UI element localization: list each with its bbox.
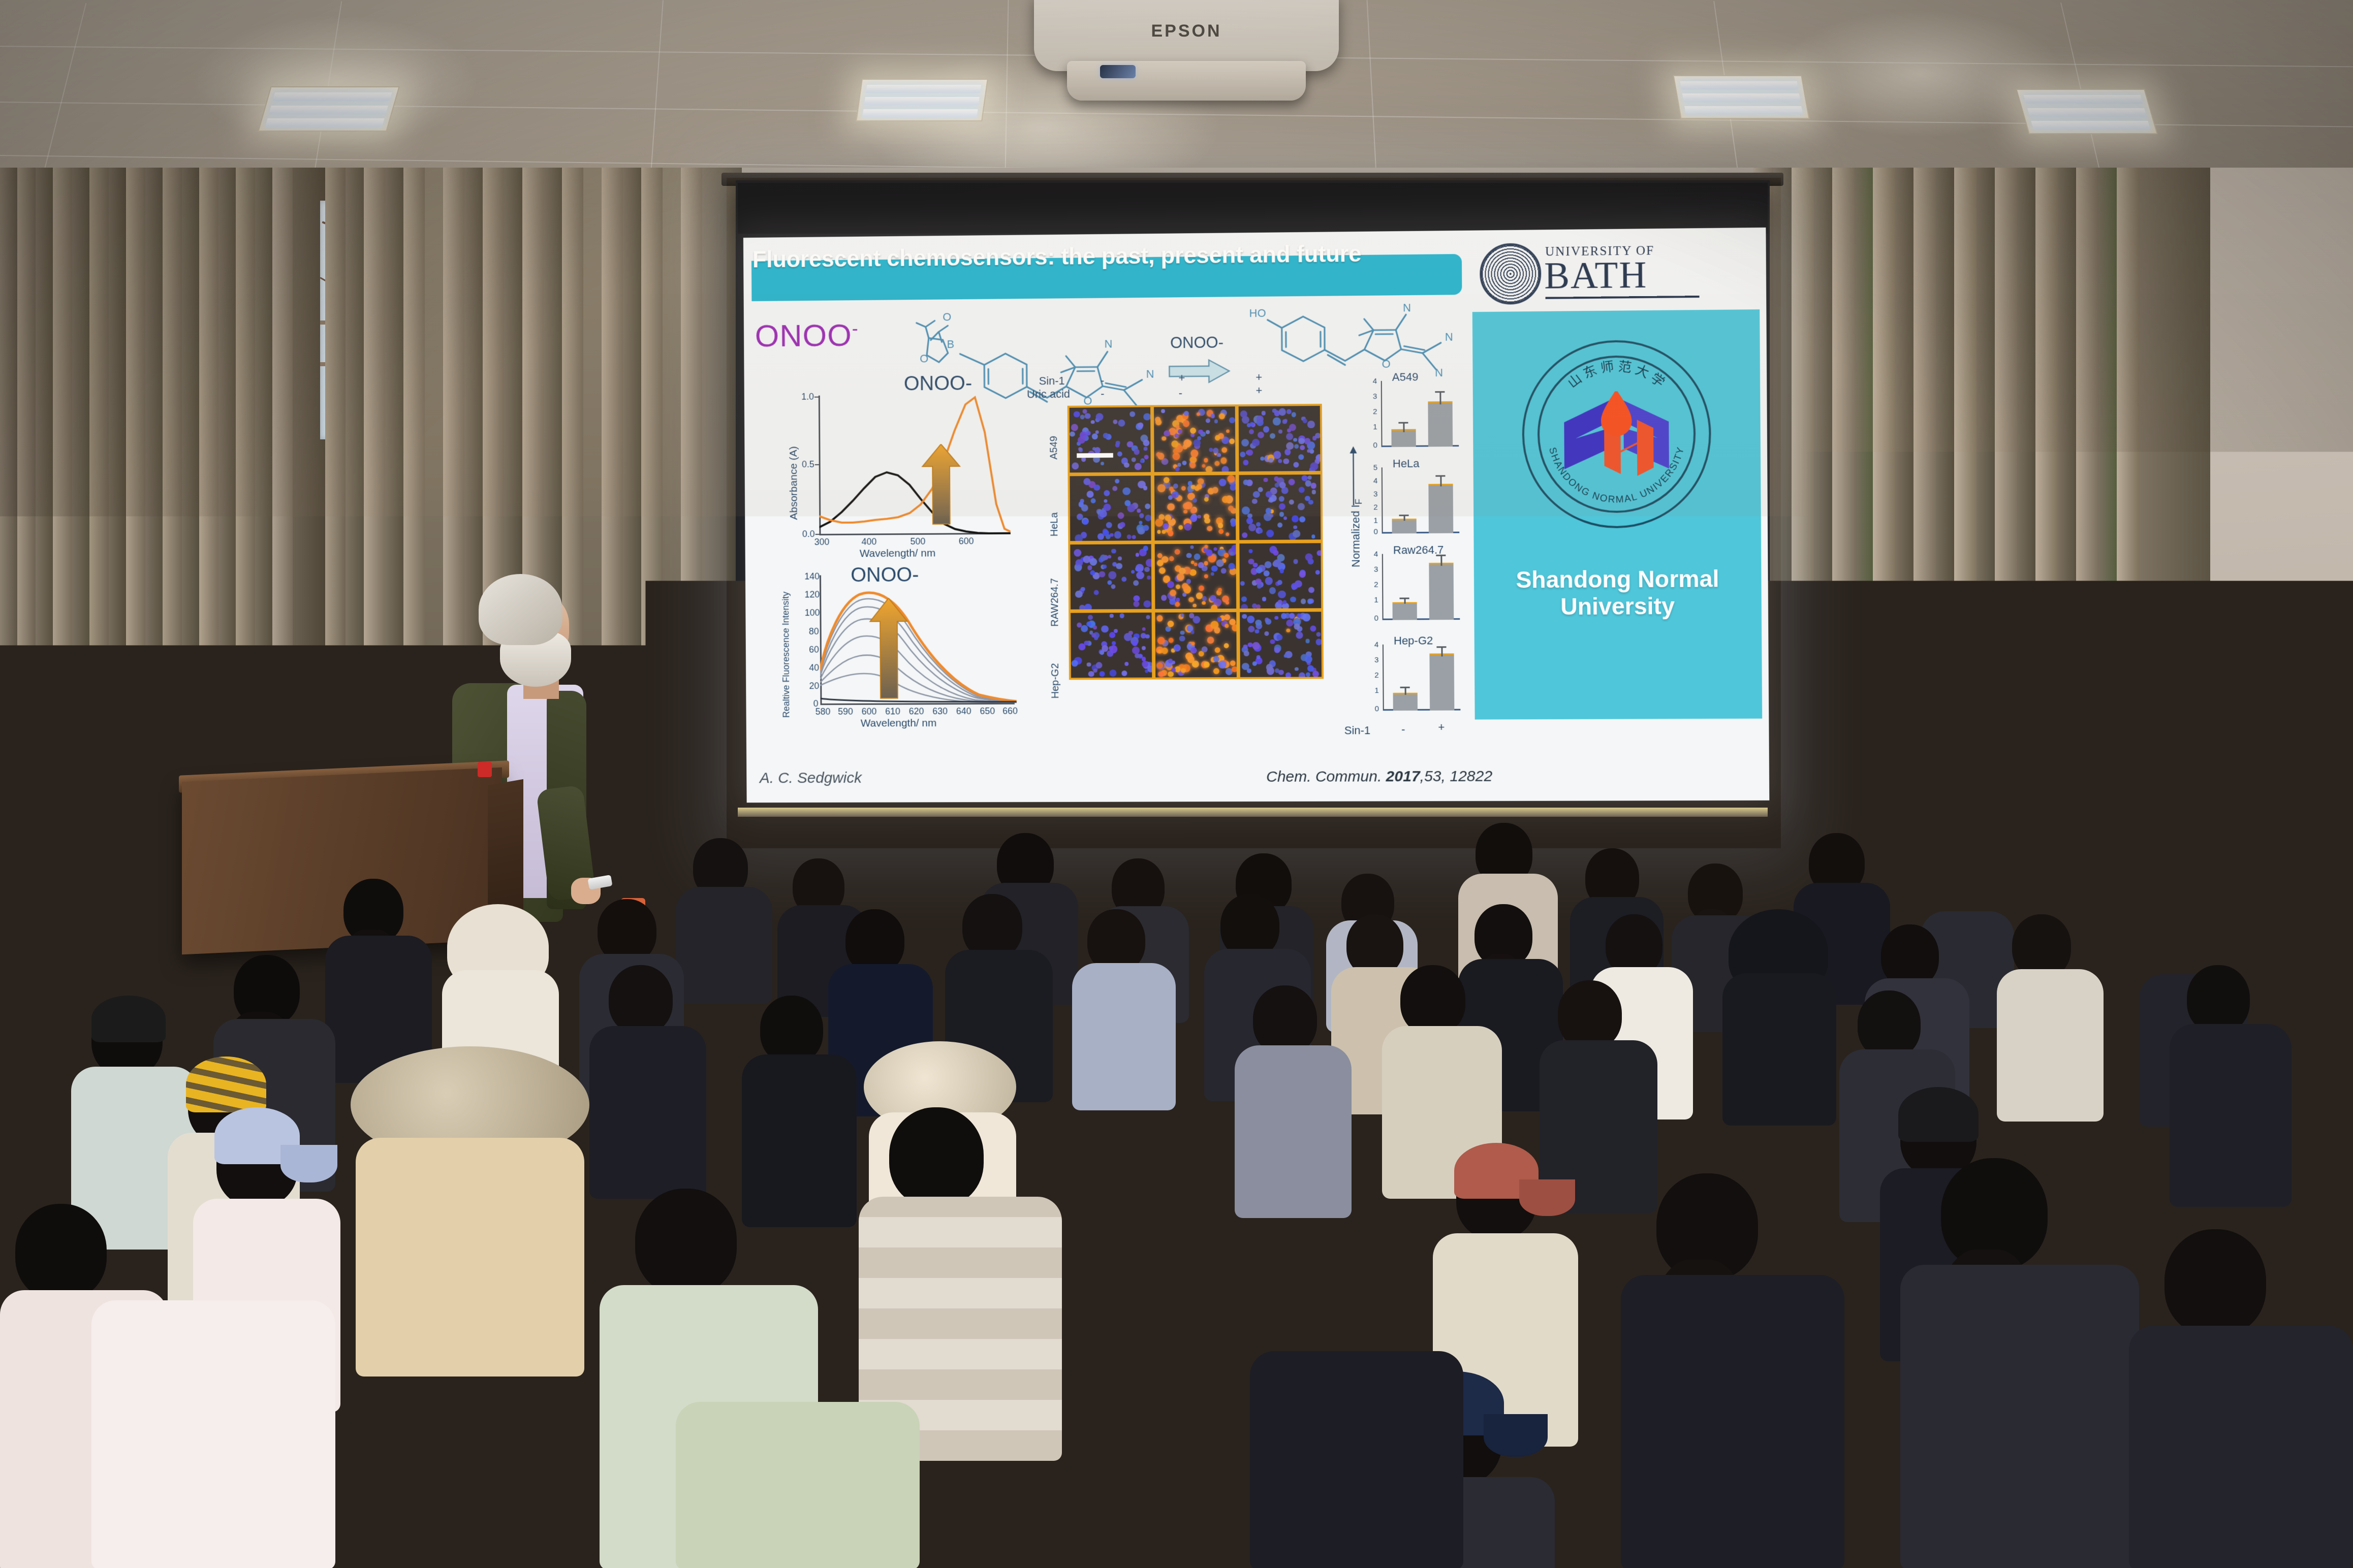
bar-chart-title: HeLa [1393,457,1420,470]
projector: EPSON [1034,0,1339,71]
bar-chart-a549: A549 43 21 0 [1369,374,1466,457]
beanie [1898,1087,1979,1142]
uric-value-3: + [1256,384,1262,397]
normalized-if-arrow-icon [1348,445,1358,506]
analyte-charge: - [852,318,859,339]
sdnu-name-line1: Shandong Normal [1516,565,1719,593]
absorbance-increase-arrow [921,444,961,525]
bar-chart-title: Hep-G2 [1394,634,1433,647]
cell-image [1154,475,1236,540]
absorbance-ytick-10: 1.0 [801,392,814,402]
fluorescence-annotation: ONOO- [851,564,919,587]
scale-bar [1077,453,1113,458]
bar-treated [1429,653,1454,710]
slide-credit-author: A. C. Sedgwick [760,770,862,787]
whiteboard [2208,589,2353,853]
cellline-label-hepg2: Hep-G2 [1050,663,1061,699]
credit-year: 2017 [1386,768,1420,785]
fluorescence-ytick-120: 120 [805,589,820,600]
reaction-arrow-label: ONOO- [1170,333,1223,352]
absorbance-x-title: Wavelength/ nm [860,548,936,560]
absorbance-annotation: ONOO- [904,372,972,395]
speaker-hair [479,574,562,645]
bar-chart-raw264: Raw264.7 43 21 0 [1370,548,1467,629]
credit-rest: ,53, 12822 [1420,768,1493,785]
cell-image-grid [1068,404,1324,680]
sdnu-name: Shandong Normal University [1474,565,1762,621]
fluorescence-ytick-140: 140 [804,571,820,582]
svg-text:N: N [1445,331,1453,343]
fluorescence-ytick-40: 40 [809,663,819,674]
fluorescence-ytick-100: 100 [805,607,820,618]
projector-lens [1100,65,1136,78]
normalized-if-axis-label: Normalized IF [1349,499,1365,567]
ceiling-light-panel [2016,89,2158,134]
svg-text:N: N [1104,337,1112,350]
bar-control [1393,693,1418,711]
fluorescence-y-title: Realtive Fluorescence Intensity [780,592,792,718]
cellline-label-hela: HeLa [1049,513,1060,537]
svg-text:山 东 师 范 大 学: 山 东 师 范 大 学 [1565,359,1668,391]
fluorescence-xtick-600: 600 [862,707,877,717]
condition-label-uric-acid: Uric acid [1027,388,1070,401]
svg-text:N: N [1403,302,1411,314]
shandong-normal-university-panel: SHANDONG NORMAL UNIVERSITY 山 东 师 范 大 学 S… [1472,309,1762,719]
absorbance-ytick-00: 0.0 [802,529,815,539]
fluorescence-increase-arrow [869,598,908,699]
fluorescence-x-title: Wavelength/ nm [861,717,937,729]
fluorescence-xtick-650: 650 [980,706,995,717]
cell-image [1071,613,1152,678]
cap [91,996,166,1042]
fluorescence-ytick-60: 60 [809,645,819,655]
ceiling-light-panel [258,86,400,132]
bar-chart-title: A549 [1392,370,1419,383]
absorbance-ytick-05: 0.5 [802,459,814,470]
fluorescence-xtick-630: 630 [932,706,948,717]
cell-imaging-panel: Sin-1 Uric acid - + + - - + A549 HeLa RA… [1046,372,1332,689]
bar-chart-hepg2: Hep-G2 43 21 0 [1370,638,1468,720]
fluorescence-xtick-590: 590 [838,707,853,717]
svg-text:B: B [947,338,954,350]
cell-image [1239,543,1321,609]
fluorescence-plot: Realtive Fluorescence Intensity 140 120 … [780,569,1033,737]
sdnu-emblem-icon: SHANDONG NORMAL UNIVERSITY 山 东 师 范 大 学 [1522,339,1712,529]
fluorescence-xtick-640: 640 [956,706,971,717]
sdnu-sn-monogram [1560,391,1673,499]
university-of-bath-logo: UNIVERSITY OF BATH [1480,239,1731,303]
fluorescence-ytick-20: 20 [809,681,820,691]
analyte-heading-text: ONOO [755,318,852,354]
bottle-cap [478,762,492,777]
cap-brim [280,1145,337,1182]
sdnu-name-line2: University [1560,593,1675,620]
cell-image [1239,474,1321,540]
absorbance-xtick-600: 600 [959,536,974,547]
microphone-head [287,703,300,714]
fluorescence-xtick-580: 580 [815,707,831,717]
absorbance-xtick-400: 400 [862,536,877,547]
cell-image [1155,543,1236,609]
uric-value-2: - [1179,387,1182,400]
bath-name: BATH [1544,258,1648,295]
whiteboard-tray [2208,737,2353,743]
uric-value-1: - [1101,387,1104,400]
cellline-label-raw264: RAW264.7 [1049,578,1061,627]
absorbance-y-title: Absorbance (A) [788,446,800,520]
cell-image [1070,475,1151,541]
credit-journal: Chem. Commun. [1266,768,1386,785]
cell-image [1070,407,1151,473]
bar-control [1392,519,1416,533]
screen-black-mask [738,183,1768,234]
bar-treated [1428,484,1453,533]
beanie [186,1057,266,1112]
cell-image [1240,612,1322,677]
screen-bottom-bar [738,808,1768,817]
presentation-slide: Fluorescent chemosensors: the past, pres… [743,228,1769,803]
slide-credit-citation: Chem. Commun. 2017,53, 12822 [1266,768,1492,786]
cell-image [1070,544,1151,610]
absorbance-xtick-500: 500 [911,536,926,547]
bar-treated [1428,401,1453,447]
bar-chart-hela: HeLa 54 32 10 [1369,461,1467,543]
bar-xaxis-label-sin1: Sin-1 [1344,724,1371,737]
cap-brim [1484,1414,1548,1457]
svg-text:HO: HO [1249,307,1266,319]
fluorescence-xtick-620: 620 [909,706,924,717]
cell-image [1154,406,1235,472]
cell-image [1239,406,1321,471]
cell-image [1155,612,1236,678]
svg-text:O: O [1382,358,1390,370]
bar-control [1392,602,1417,620]
fluorescence-xtick-610: 610 [885,706,900,717]
ceiling-light-panel [1673,75,1809,119]
analyte-heading: ONOO- [755,317,859,354]
bar-xtick-minus: - [1401,723,1405,736]
fluorescence-ytick-80: 80 [809,626,819,637]
sin1-value-2: + [1178,371,1185,385]
lecture-hall-photo: EPSON [0,0,2353,1568]
condition-label-sin1: Sin-1 [1039,374,1065,388]
slide-title: Fluorescent chemosensors: the past, pres… [752,240,1362,273]
sin1-value-3: + [1256,371,1262,384]
absorbance-plot: Absorbance (A) 1.0 0.5 0.0 300 400 500 6… [785,387,1022,556]
bath-seal-icon [1480,243,1542,305]
absorbance-xtick-300: 300 [814,537,830,548]
normalized-if-text: Normalized I [1349,504,1362,567]
ceiling-light-panel [856,79,988,121]
projector-brand-label: EPSON [1034,21,1339,41]
svg-text:O: O [920,352,928,365]
svg-text:O: O [943,310,951,323]
cellline-label-a549: A549 [1048,436,1060,460]
bar-xtick-plus: + [1438,721,1445,734]
cap-brim [1519,1179,1575,1216]
bar-treated [1429,563,1454,620]
fluorescence-xtick-660: 660 [1002,706,1018,717]
sin1-value-1: - [1101,374,1104,387]
